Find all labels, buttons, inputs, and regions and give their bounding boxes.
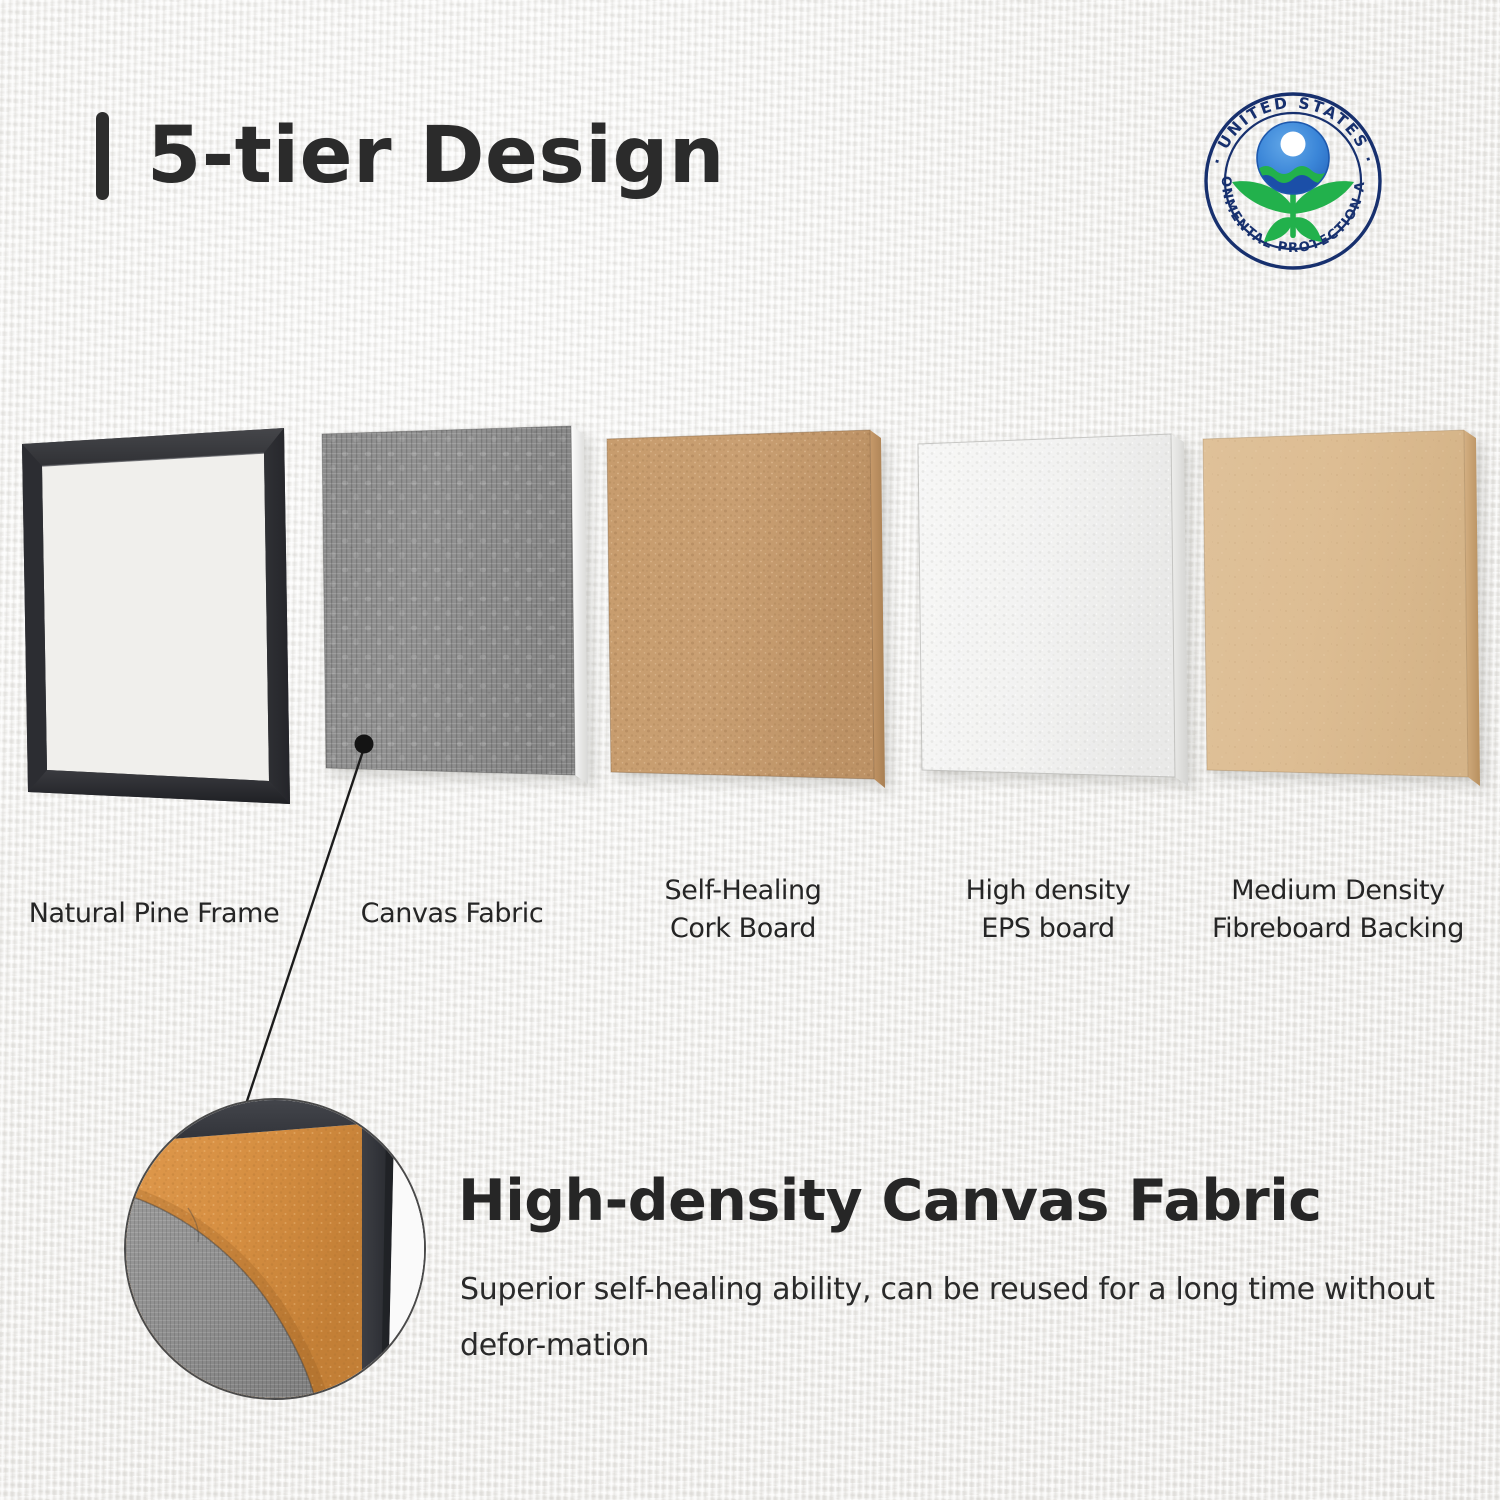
layer-panel-self-healing-cork-board [602, 420, 882, 818]
page-title-row: 5-tier Design [96, 112, 725, 200]
layer-panel-natural-pine-frame [18, 424, 290, 812]
layer-label-canvas-fabric: Canvas Fabric [318, 895, 586, 933]
canvas-peel-detail-inset [124, 1098, 426, 1400]
title-accent-bar [96, 112, 109, 200]
epa-seal: · UNITED STATES · ENVIRONMENTAL PROTECTI… [1198, 86, 1388, 276]
layer-panel-medium-density-fibreboard-backing [1198, 420, 1476, 816]
layer-panel-high-density-eps-board [912, 424, 1184, 816]
layer-panel-canvas-fabric [316, 418, 584, 818]
feature-heading: High-density Canvas Fabric [458, 1168, 1322, 1234]
layer-label-high-density-eps-board: High density EPS board [910, 872, 1186, 949]
page-title: 5-tier Design [147, 117, 725, 195]
feature-body: Superior self-healing ability, can be re… [460, 1262, 1460, 1373]
layer-label-self-healing-cork-board: Self-Healing Cork Board [602, 872, 884, 949]
layer-label-medium-density-fibreboard-backing: Medium Density Fibreboard Backing [1192, 872, 1484, 949]
layer-label-natural-pine-frame: Natural Pine Frame [14, 895, 294, 933]
